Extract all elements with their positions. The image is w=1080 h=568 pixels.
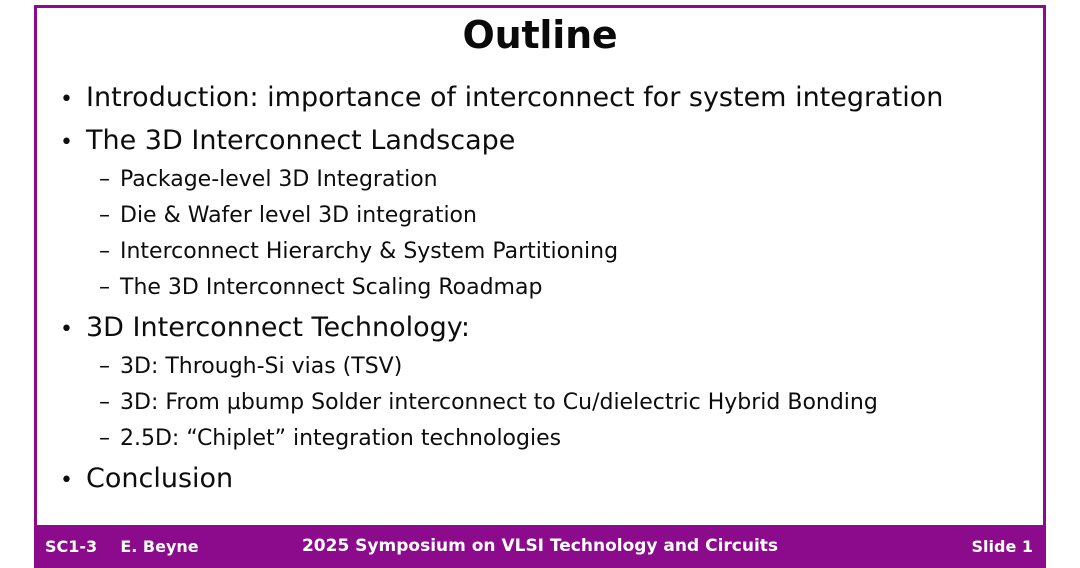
footer-slide-number: Slide 1 <box>972 525 1034 568</box>
bullet-item-level2: –The 3D Interconnect Scaling Roadmap <box>37 270 1043 306</box>
bullet-dash-icon: – <box>99 270 120 306</box>
slide-canvas: Outline •Introduction: importance of int… <box>0 0 1080 568</box>
bullet-dot-icon: • <box>60 459 86 502</box>
footer-conference-title: 2025 Symposium on VLSI Technology and Ci… <box>34 525 1046 568</box>
bullet-text: 3D: From µbump Solder interconnect to Cu… <box>120 385 878 421</box>
bullet-dot-icon: • <box>60 78 86 121</box>
bullet-item-level2: –Interconnect Hierarchy & System Partiti… <box>37 234 1043 270</box>
bullet-text: Introduction: importance of interconnect… <box>86 76 943 119</box>
bullet-text: Die & Wafer level 3D integration <box>120 198 477 234</box>
bullet-dash-icon: – <box>99 162 120 198</box>
bullet-text: 3D: Through-Si vias (TSV) <box>120 349 402 385</box>
bullet-text: 2.5D: “Chiplet” integration technologies <box>120 421 561 457</box>
bullet-dash-icon: – <box>99 234 120 270</box>
bullet-text: The 3D Interconnect Landscape <box>86 119 515 162</box>
bullet-text: The 3D Interconnect Scaling Roadmap <box>120 270 542 306</box>
bullet-item-level1: •Introduction: importance of interconnec… <box>37 76 1043 119</box>
bullet-dash-icon: – <box>99 349 120 385</box>
bullet-item-level2: –Die & Wafer level 3D integration <box>37 198 1043 234</box>
bullet-text: Package-level 3D Integration <box>120 162 438 198</box>
footer-bar: SC1-3 E. Beyne 2025 Symposium on VLSI Te… <box>34 525 1046 568</box>
bullet-item-level1: •Conclusion <box>37 457 1043 500</box>
outline-bullet-list: •Introduction: importance of interconnec… <box>37 76 1043 500</box>
bullet-text: Conclusion <box>86 457 233 500</box>
bullet-item-level1: •3D Interconnect Technology: <box>37 306 1043 349</box>
bullet-item-level2: –3D: Through-Si vias (TSV) <box>37 349 1043 385</box>
bullet-item-level2: –3D: From µbump Solder interconnect to C… <box>37 385 1043 421</box>
bullet-item-level2: –Package-level 3D Integration <box>37 162 1043 198</box>
bullet-dash-icon: – <box>99 421 120 457</box>
bullet-item-level2: –2.5D: “Chiplet” integration technologie… <box>37 421 1043 457</box>
bullet-item-level1: •The 3D Interconnect Landscape <box>37 119 1043 162</box>
page-title: Outline <box>37 12 1043 58</box>
bullet-dash-icon: – <box>99 385 120 421</box>
bullet-dash-icon: – <box>99 198 120 234</box>
bullet-dot-icon: • <box>60 308 86 351</box>
bullet-text: 3D Interconnect Technology: <box>86 306 470 349</box>
bullet-text: Interconnect Hierarchy & System Partitio… <box>120 234 618 270</box>
bullet-dot-icon: • <box>60 121 86 164</box>
